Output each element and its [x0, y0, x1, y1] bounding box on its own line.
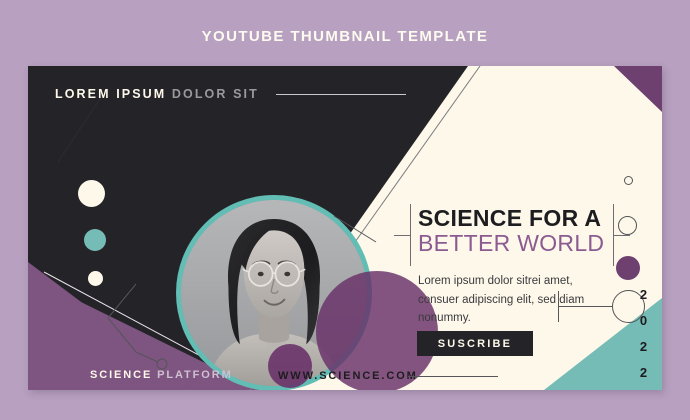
eyebrow-soft: DOLOR SIT: [172, 87, 259, 101]
year-digit-4: 2: [632, 360, 656, 386]
year-digit-3: 2: [632, 334, 656, 360]
headline-line-2: BETTER WORLD: [418, 231, 618, 257]
website-label: WWW.SCIENCE.COM: [278, 370, 418, 382]
year-digit-1: 2: [632, 282, 656, 308]
brand-label-strong: SCIENCE: [90, 369, 152, 381]
year-column: 2 0 2 2: [632, 282, 656, 386]
headline-block: SCIENCE FOR A BETTER WORLD: [418, 206, 618, 257]
decor-ring-small: [618, 216, 637, 235]
headline-line-1: SCIENCE FOR A: [418, 206, 618, 231]
subscribe-button[interactable]: SUSCRIBE: [417, 331, 533, 356]
youtube-thumbnail-card: LOREM IPSUM DOLOR SIT SCIENCE FOR A BETT…: [28, 66, 662, 390]
eyebrow-text: LOREM IPSUM DOLOR SIT: [55, 87, 259, 101]
brand-label-soft: PLATFORM: [157, 369, 233, 381]
decor-dot-teal-medium: [84, 229, 106, 251]
eyebrow-strong: LOREM IPSUM: [55, 87, 166, 101]
page-title: YOUTUBE THUMBNAIL TEMPLATE: [0, 28, 690, 45]
eyebrow-rule: [276, 94, 406, 95]
decor-ring-rule: [558, 306, 613, 307]
decor-dot-purple-right: [616, 256, 640, 280]
decor-dot-cream-small: [88, 271, 103, 286]
brand-label: SCIENCE PLATFORM: [90, 369, 233, 381]
decor-ring-extra-small: [624, 176, 633, 185]
year-digit-2: 0: [632, 308, 656, 334]
body-copy: Lorem ipsum dolor sitrei amet, consuer a…: [418, 272, 603, 328]
decor-dot-cream-large: [78, 180, 105, 207]
headline-tick-left: [394, 235, 411, 236]
thumbnail-template-canvas: YOUTUBE THUMBNAIL TEMPLATE: [0, 0, 690, 420]
website-rule: [408, 376, 498, 377]
